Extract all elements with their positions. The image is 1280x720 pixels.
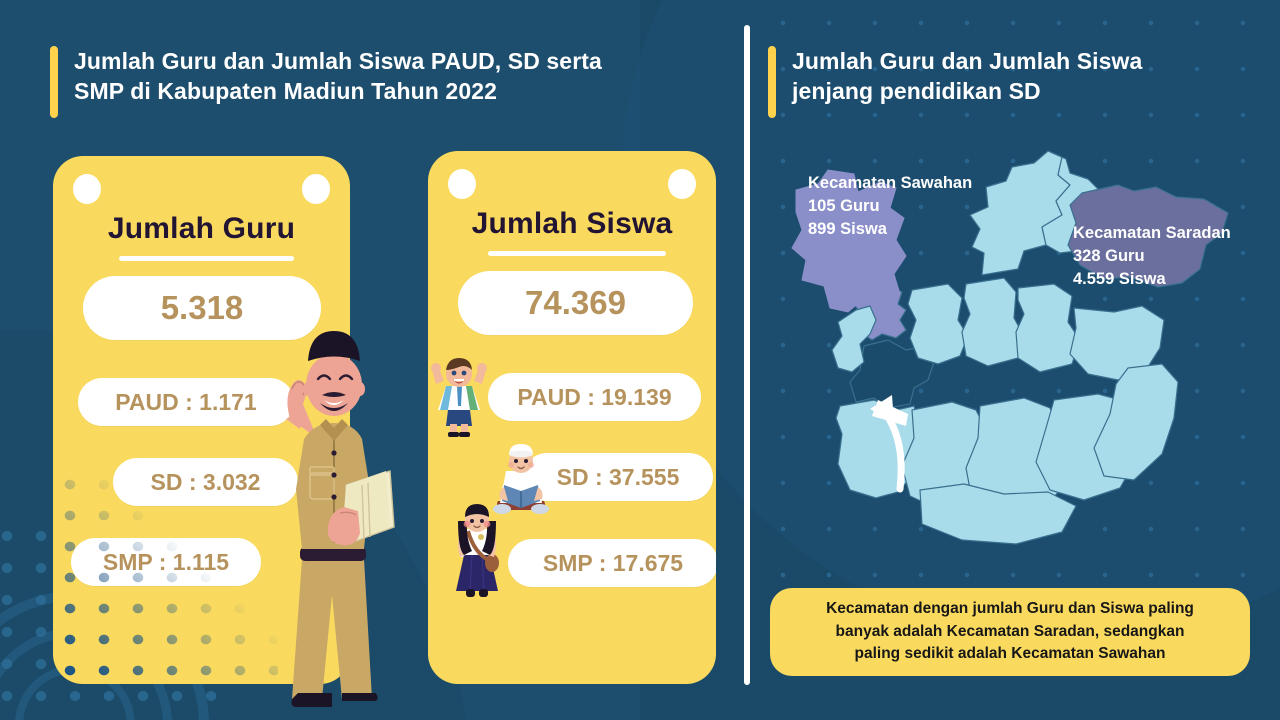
district-central[interactable] xyxy=(962,278,1024,366)
punch-hole-icon xyxy=(448,169,476,199)
sawahan-siswa: 899 Siswa xyxy=(808,218,972,241)
title-underline xyxy=(119,256,294,261)
student-girl-illustration xyxy=(448,503,506,601)
student-boy-illustration xyxy=(428,358,490,438)
sawahan-guru: 105 Guru xyxy=(808,195,972,218)
punch-hole-icon xyxy=(73,174,101,204)
district-central-east[interactable] xyxy=(1016,284,1080,372)
summary-note: Kecamatan dengan jumlah Guru dan Siswa p… xyxy=(770,588,1250,676)
accent-bar xyxy=(768,46,776,118)
page-title-left: Jumlah Guru dan Jumlah Siswa PAUD, SD se… xyxy=(74,46,602,107)
vertical-divider xyxy=(744,25,750,685)
district-south-east-2[interactable] xyxy=(1094,364,1178,480)
siswa-total-value: 74.369 xyxy=(458,271,693,335)
left-panel-header: Jumlah Guru dan Jumlah Siswa PAUD, SD se… xyxy=(50,46,740,118)
punch-hole-icon xyxy=(668,169,696,199)
district-north[interactable] xyxy=(970,151,1070,275)
page-title-right: Jumlah Guru dan Jumlah Siswa jenjang pen… xyxy=(792,46,1142,107)
saradan-guru: 328 Guru xyxy=(1073,245,1231,268)
sawahan-name: Kecamatan Sawahan xyxy=(808,172,972,195)
punch-hole-icon xyxy=(302,174,330,204)
saradan-siswa: 4.559 Siswa xyxy=(1073,268,1231,291)
guru-row-paud: PAUD : 1.171 xyxy=(78,378,294,426)
title-underline xyxy=(488,251,666,256)
accent-bar xyxy=(50,46,58,118)
right-panel-header: Jumlah Guru dan Jumlah Siswa jenjang pen… xyxy=(768,46,1248,118)
map-label-sawahan: Kecamatan Sawahan 105 Guru 899 Siswa xyxy=(808,172,972,240)
siswa-row-smp: SMP : 17.675 xyxy=(508,539,716,587)
district-central-west[interactable] xyxy=(908,284,968,364)
siswa-row-paud: PAUD : 19.139 xyxy=(488,373,701,421)
guru-row-smp: SMP : 1.115 xyxy=(71,538,261,586)
card-guru-title: Jumlah Guru xyxy=(53,212,350,246)
saradan-name: Kecamatan Saradan xyxy=(1073,222,1231,245)
teacher-illustration xyxy=(268,307,398,717)
card-siswa-title: Jumlah Siswa xyxy=(428,207,716,241)
map-label-saradan: Kecamatan Saradan 328 Guru 4.559 Siswa xyxy=(1073,222,1231,290)
